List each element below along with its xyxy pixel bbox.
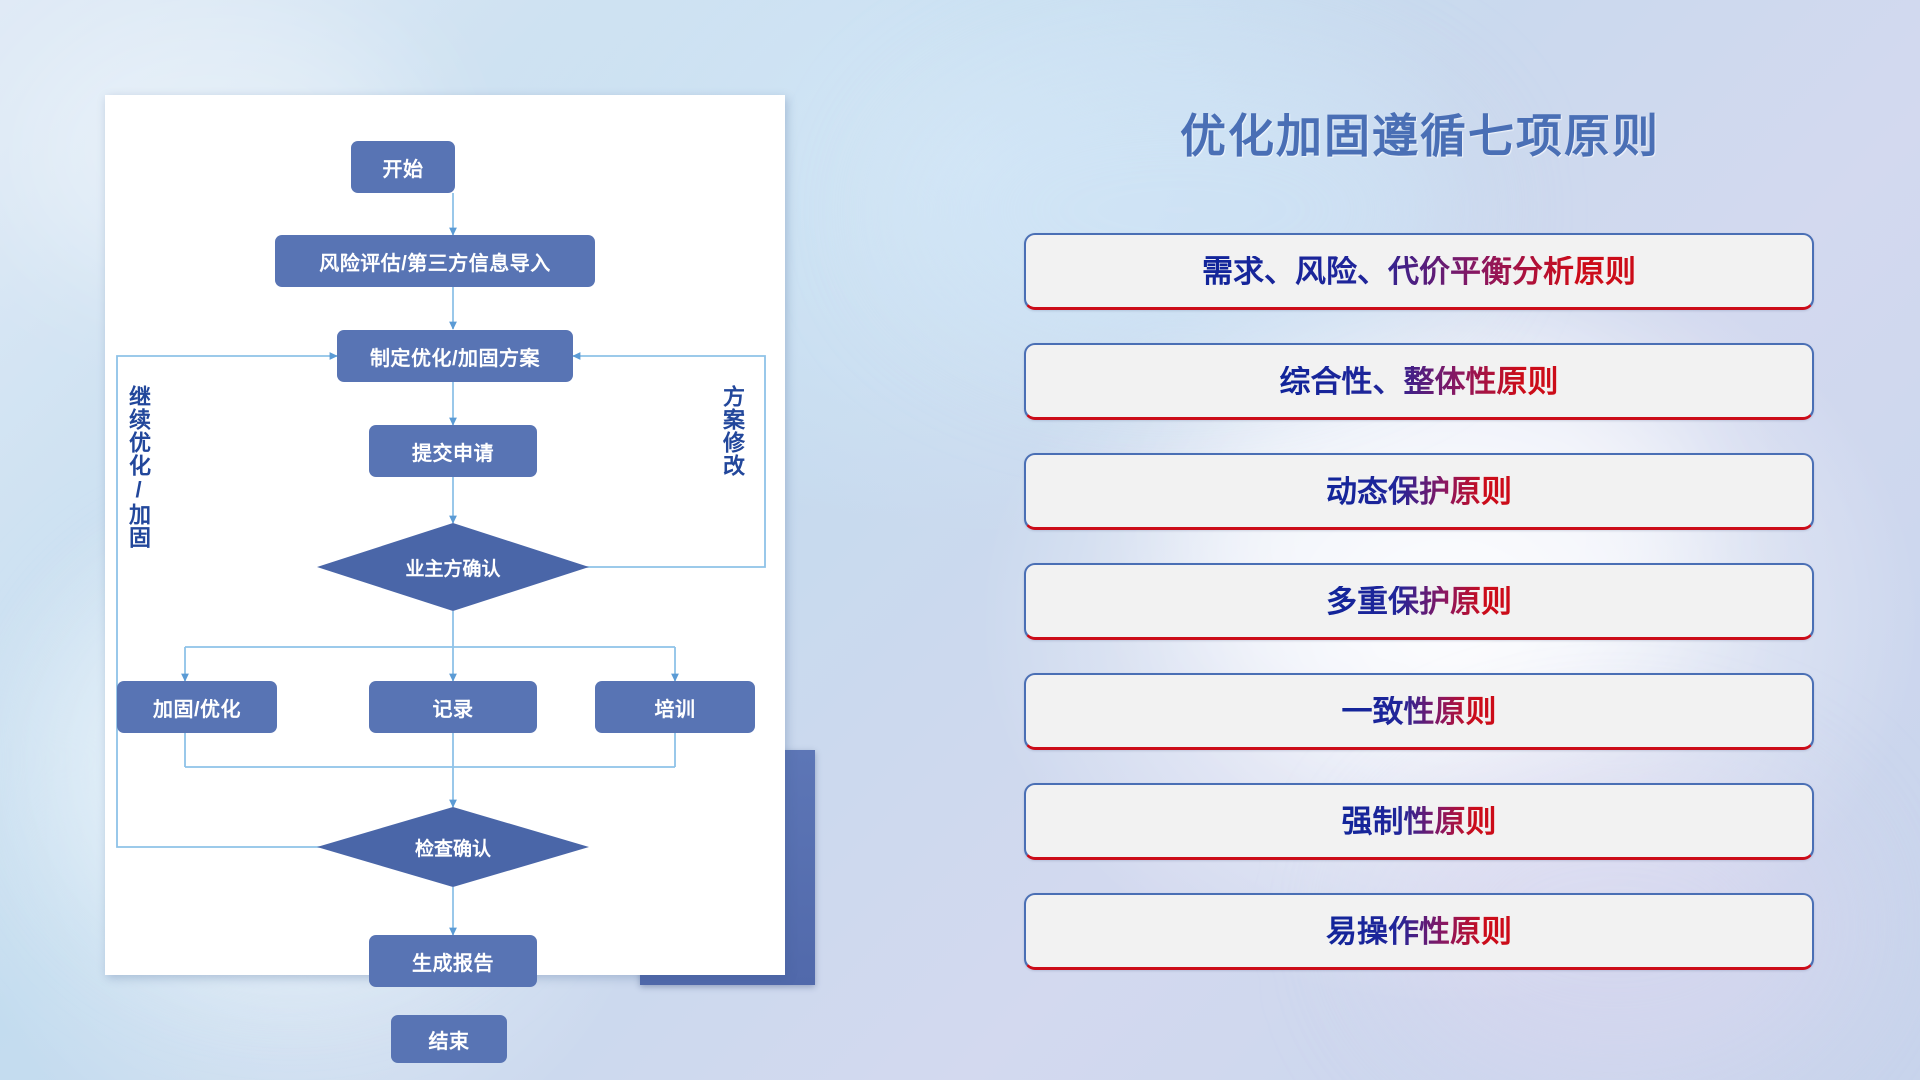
- principle-item-1[interactable]: 需求、风险、代价平衡分析原则: [1024, 233, 1814, 310]
- flow-node-check-confirm-label: 检查确认: [415, 834, 491, 861]
- principle-item-2[interactable]: 综合性、整体性原则: [1024, 343, 1814, 420]
- flow-node-plan[interactable]: 制定优化/加固方案: [337, 330, 573, 382]
- flow-node-start-label: 开始: [383, 153, 424, 182]
- flow-node-risk-assessment[interactable]: 风险评估/第三方信息导入: [275, 235, 595, 287]
- principle-item-3-label: 动态保护原则: [1326, 476, 1512, 507]
- flowchart-card: 开始 风险评估/第三方信息导入 制定优化/加固方案 提交申请 业主方确认 加固/…: [105, 95, 785, 975]
- principles-list: 需求、风险、代价平衡分析原则 综合性、整体性原则 动态保护原则 多重保护原则 一…: [1024, 233, 1814, 1003]
- flow-node-training[interactable]: 培训: [595, 681, 755, 733]
- principles-panel-title: 优化加固遵循七项原则: [1010, 100, 1830, 166]
- principle-item-6[interactable]: 强制性原则: [1024, 783, 1814, 860]
- principles-panel: 优化加固遵循七项原则 需求、风险、代价平衡分析原则 综合性、整体性原则 动态保护…: [1010, 100, 1830, 1000]
- flow-node-training-label: 培训: [655, 693, 696, 722]
- flow-node-owner-confirm-label: 业主方确认: [405, 554, 500, 581]
- flow-edge-label-plan-revision: 方案修改: [721, 385, 743, 477]
- flow-node-submit-label: 提交申请: [412, 437, 494, 466]
- flow-node-end[interactable]: 结束: [391, 1015, 507, 1063]
- flow-node-owner-confirm[interactable]: 业主方确认: [317, 523, 589, 611]
- flow-node-report-label: 生成报告: [412, 947, 494, 976]
- principle-item-3[interactable]: 动态保护原则: [1024, 453, 1814, 530]
- principle-item-1-label: 需求、风险、代价平衡分析原则: [1202, 256, 1636, 287]
- flow-node-submit[interactable]: 提交申请: [369, 425, 537, 477]
- flowchart-diagram: 开始 风险评估/第三方信息导入 制定优化/加固方案 提交申请 业主方确认 加固/…: [105, 95, 785, 975]
- principle-item-6-label: 强制性原则: [1342, 806, 1497, 837]
- flow-node-report[interactable]: 生成报告: [369, 935, 537, 987]
- flow-node-start[interactable]: 开始: [351, 141, 455, 193]
- flow-node-record[interactable]: 记录: [369, 681, 537, 733]
- principle-item-5[interactable]: 一致性原则: [1024, 673, 1814, 750]
- flow-node-check-confirm[interactable]: 检查确认: [317, 807, 589, 887]
- principle-item-4[interactable]: 多重保护原则: [1024, 563, 1814, 640]
- flow-node-record-label: 记录: [433, 693, 474, 722]
- principle-item-5-label: 一致性原则: [1342, 696, 1497, 727]
- flow-node-plan-label: 制定优化/加固方案: [370, 342, 540, 371]
- slide-canvas: 开始 风险评估/第三方信息导入 制定优化/加固方案 提交申请 业主方确认 加固/…: [0, 0, 1920, 1080]
- principle-item-2-label: 综合性、整体性原则: [1280, 366, 1559, 397]
- principle-item-7-label: 易操作性原则: [1326, 916, 1512, 947]
- flow-node-reinforce[interactable]: 加固/优化: [117, 681, 277, 733]
- principle-item-7[interactable]: 易操作性原则: [1024, 893, 1814, 970]
- principle-item-4-label: 多重保护原则: [1326, 586, 1512, 617]
- flow-node-end-label: 结束: [429, 1025, 470, 1054]
- flow-node-reinforce-label: 加固/优化: [153, 693, 241, 722]
- flow-edge-label-continue-optimize: 继续优化/加固: [127, 385, 149, 549]
- flow-node-risk-assessment-label: 风险评估/第三方信息导入: [319, 247, 551, 276]
